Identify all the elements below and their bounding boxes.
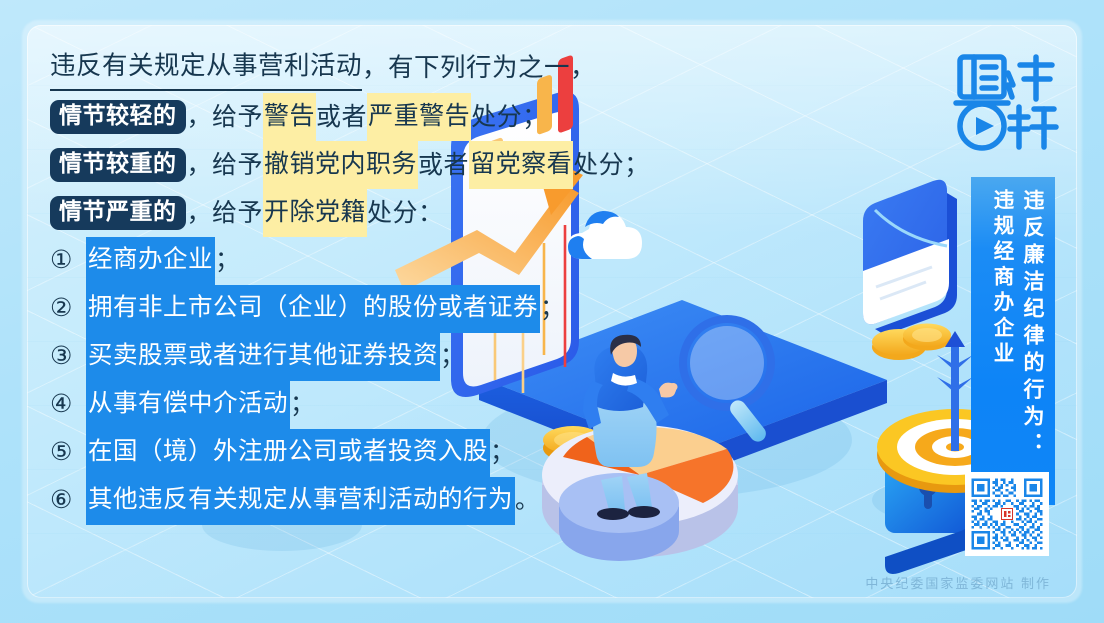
list-tail-1: ； bbox=[215, 239, 240, 283]
penalty-3-comma: ， bbox=[187, 191, 213, 236]
bar-chart-tablet bbox=[863, 25, 957, 335]
penalty-2-sanction-2: 留党察看 bbox=[469, 141, 573, 189]
penalty-1-suffix: 处分； bbox=[471, 95, 548, 140]
penalty-3-sanction-1: 开除党籍 bbox=[263, 189, 367, 237]
list-number-4: ④ bbox=[50, 383, 86, 427]
list-text-5: 在国（境）外注册公司或者投资入股 bbox=[86, 429, 490, 477]
headline-underlined-part: 违反有关规定从事营利活动 bbox=[50, 45, 362, 91]
list-item: ④ 从事有偿中介活动 ； bbox=[50, 381, 710, 429]
list-tail-4: ； bbox=[290, 383, 315, 427]
list-number-6: ⑥ bbox=[50, 479, 86, 523]
severity-pill-3: 情节严重的 bbox=[50, 196, 186, 230]
severity-pill-1: 情节较轻的 bbox=[50, 100, 186, 134]
penalty-2-suffix: 处分； bbox=[573, 143, 650, 188]
list-item: ⑥ 其他违反有关规定从事营利活动的行为 。 bbox=[50, 477, 710, 525]
list-text-2: 拥有非上市公司（企业）的股份或者证券 bbox=[86, 285, 540, 333]
qr-code[interactable] bbox=[965, 472, 1049, 556]
penalty-line-3: 情节严重的 ， 给予 开除党籍 处分： bbox=[50, 189, 710, 237]
list-text-3: 买卖股票或者进行其他证券投资 bbox=[86, 333, 440, 381]
penalty-2-prefix: 给予 bbox=[212, 143, 263, 188]
list-tail-2: ； bbox=[540, 287, 565, 331]
footer-credit: 中央纪委国家监委网站 制作 bbox=[865, 573, 1051, 592]
jifa-baike-logo bbox=[950, 47, 1060, 157]
headline-tail: ，有下列行为之一， bbox=[362, 47, 596, 89]
penalty-line-2: 情节较重的 ， 给予 撤销党内职务 或者 留党察看 处分； bbox=[50, 141, 710, 189]
list-tail-3: ； bbox=[440, 335, 465, 379]
penalty-3-suffix: 处分： bbox=[367, 191, 444, 236]
side-title-right-column: 违反廉洁纪律的行为： bbox=[1018, 189, 1048, 497]
penalty-2-comma: ， bbox=[187, 143, 213, 188]
list-item: ① 经商办企业 ； bbox=[50, 237, 710, 285]
list-number-2: ② bbox=[50, 287, 86, 331]
poster-frame: 违反有关规定从事营利活动，有下列行为之一， 情节较轻的 ， 给予 警告 或者 严… bbox=[27, 25, 1077, 598]
main-text-block: 违反有关规定从事营利活动，有下列行为之一， 情节较轻的 ， 给予 警告 或者 严… bbox=[50, 45, 710, 525]
list-item: ② 拥有非上市公司（企业）的股份或者证券 ； bbox=[50, 285, 710, 333]
penalty-3-prefix: 给予 bbox=[212, 191, 263, 236]
list-item: ③ 买卖股票或者进行其他证券投资 ； bbox=[50, 333, 710, 381]
list-number-1: ① bbox=[50, 239, 86, 283]
severity-pill-2: 情节较重的 bbox=[50, 148, 186, 182]
penalty-1-prefix: 给予 bbox=[212, 95, 263, 140]
qr-code-image bbox=[969, 476, 1045, 552]
list-tail-6: 。 bbox=[515, 479, 540, 523]
list-number-5: ⑤ bbox=[50, 431, 86, 475]
poster-root: 违反有关规定从事营利活动，有下列行为之一， 情节较轻的 ， 给予 警告 或者 严… bbox=[0, 0, 1104, 623]
penalty-line-1: 情节较轻的 ， 给予 警告 或者 严重警告 处分； bbox=[50, 93, 710, 141]
side-title-left-column: 违规经商办企业 bbox=[986, 189, 1016, 497]
penalty-2-mid: 或者 bbox=[418, 143, 469, 188]
penalty-1-sanction-2: 严重警告 bbox=[367, 93, 471, 141]
list-text-4: 从事有偿中介活动 bbox=[86, 381, 290, 429]
penalty-1-comma: ， bbox=[187, 95, 213, 140]
penalty-2-sanction-1: 撤销党内职务 bbox=[263, 141, 418, 189]
list-text-1: 经商办企业 bbox=[86, 237, 215, 285]
list-number-3: ③ bbox=[50, 335, 86, 379]
list-text-6: 其他违反有关规定从事营利活动的行为 bbox=[86, 477, 515, 525]
play-triangle-icon bbox=[976, 117, 994, 135]
headline-line: 违反有关规定从事营利活动，有下列行为之一， bbox=[50, 45, 710, 91]
side-title-panel: 违反廉洁纪律的行为： 违规经商办企业 bbox=[971, 177, 1055, 505]
list-tail-5: ； bbox=[490, 431, 515, 475]
qr-center-seal bbox=[1000, 507, 1013, 520]
penalty-1-mid: 或者 bbox=[316, 95, 367, 140]
list-item: ⑤ 在国（境）外注册公司或者投资入股 ； bbox=[50, 429, 710, 477]
penalty-1-sanction-1: 警告 bbox=[263, 93, 316, 141]
